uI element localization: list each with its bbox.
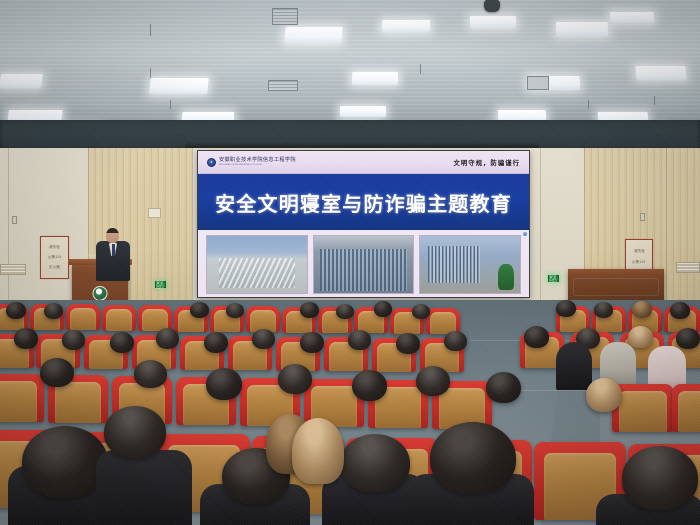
ceiling-hanger-rod <box>654 96 655 105</box>
seat <box>66 304 100 330</box>
audience-head <box>44 303 63 319</box>
fire-sign-line: 消防栓 <box>49 246 60 250</box>
campus-gate-photo <box>313 235 415 294</box>
audience-head <box>524 326 549 348</box>
audience-head <box>412 304 430 319</box>
emergency-exit-sign-right: 安全出口 <box>548 275 559 282</box>
audience-head <box>556 300 576 317</box>
presenter-tie <box>112 244 115 256</box>
brand-name-cn: 安徽职业技术学院信息工程学院 <box>219 158 296 163</box>
seat <box>672 384 700 432</box>
audience-head <box>62 330 85 350</box>
audience-head <box>14 328 38 349</box>
ceiling-hanger-rod <box>420 64 421 74</box>
slide-brand: ★ 安徽职业技术学院信息工程学院 INFORMATION ENGINEERING… <box>207 158 296 167</box>
ceiling-air-vent <box>272 8 298 25</box>
ceiling-lamp <box>382 20 431 32</box>
seat <box>102 305 136 331</box>
brand-name-en: INFORMATION ENGINEERING COLLEGE <box>219 164 296 166</box>
ceiling-hanger-rod <box>588 100 589 109</box>
audience-head <box>430 422 516 494</box>
audience-head <box>586 378 622 412</box>
brand-text: 安徽职业技术学院信息工程学院 INFORMATION ENGINEERING C… <box>219 158 296 166</box>
ceiling-speaker <box>484 0 500 12</box>
audience-head <box>670 302 690 319</box>
audience-head <box>444 331 467 351</box>
emergency-exit-sign-left: 安全出口 <box>155 281 166 288</box>
presenter-head <box>106 228 119 243</box>
audience-head <box>206 368 242 400</box>
ceiling-lamp <box>340 106 386 117</box>
audience-head <box>340 434 410 492</box>
ceiling-lamp <box>635 66 686 80</box>
audience-head <box>300 302 319 318</box>
audience-head <box>416 366 450 396</box>
wall-switch-plate[interactable] <box>640 213 645 221</box>
ceiling-lamp <box>149 78 209 94</box>
audience-head <box>104 406 166 458</box>
exit-sign-label: 安全出口 <box>549 275 558 283</box>
audience-head <box>336 304 354 319</box>
auditorium-photo: 消防栓 火警119 灭火器 消防栓 火警119 安全出口 安全出口 ★ 安徽职业… <box>0 0 700 525</box>
slide-slogan: 文明守规，防骗谨行 <box>453 158 520 167</box>
audience-head <box>486 372 521 403</box>
audience-body <box>96 450 192 525</box>
fire-sign-line: 灭火器 <box>49 266 60 270</box>
audience-head <box>632 301 652 318</box>
slide-photo-strip <box>198 230 529 297</box>
ceiling-hanger-rod <box>150 24 151 36</box>
slide-title: 安全文明寝室与防诈骗主题教育 <box>215 188 512 217</box>
wall-junction-box <box>148 208 161 218</box>
audience-head <box>300 332 324 353</box>
wall-air-grille-left <box>0 264 26 275</box>
ceiling-lamp <box>0 74 43 88</box>
audience-head <box>594 302 613 318</box>
presenter-person <box>96 228 130 280</box>
projection-screen: ★ 安徽职业技术学院信息工程学院 INFORMATION ENGINEERING… <box>197 150 530 298</box>
audience-head <box>156 328 179 349</box>
fire-sign-line: 消防栓 <box>633 250 644 254</box>
ceiling-hanger-rod <box>150 68 151 78</box>
audience-head <box>396 333 420 354</box>
university-seal-icon: ★ <box>207 158 216 167</box>
audience-head <box>204 332 228 353</box>
campus-building-photo <box>419 235 521 294</box>
ceiling-lamp <box>284 27 342 43</box>
fire-sign-line: 火警119 <box>48 256 62 260</box>
ceiling-lamp <box>352 72 398 85</box>
ceiling-lamp <box>610 12 655 23</box>
audience-head <box>292 418 344 484</box>
fire-sign-line: 火警119 <box>632 261 646 265</box>
audience-head <box>190 302 209 318</box>
audience-body <box>556 342 592 390</box>
ceiling <box>0 0 700 132</box>
presentation-slide: ★ 安徽职业技术学院信息工程学院 INFORMATION ENGINEERING… <box>198 151 529 297</box>
fire-safety-sign-left: 消防栓 火警119 灭火器 <box>40 236 69 279</box>
wall-switch-plate[interactable] <box>12 216 17 224</box>
audience-head <box>676 328 700 349</box>
audience-head <box>110 332 134 353</box>
ceiling-air-vent <box>268 80 298 91</box>
side-console-table <box>568 269 664 301</box>
exit-sign-label: 安全出口 <box>156 281 165 289</box>
audience-head <box>352 370 387 401</box>
audience-head <box>628 326 653 348</box>
audience-head <box>6 302 26 319</box>
audience-head <box>134 360 167 388</box>
audience-head <box>226 303 244 318</box>
audience-head <box>252 329 275 349</box>
ceiling-access-panel <box>527 76 549 90</box>
wall-air-grille-right <box>676 262 700 273</box>
audience-head <box>40 358 74 387</box>
audience-head <box>278 364 312 394</box>
audience-head <box>374 301 392 317</box>
slide-corner-marker-icon <box>523 232 527 236</box>
slide-header: ★ 安徽职业技术学院信息工程学院 INFORMATION ENGINEERING… <box>198 151 529 174</box>
audience-head <box>348 330 371 350</box>
campus-aerial-photo <box>206 235 308 294</box>
slide-title-band: 安全文明寝室与防诈骗主题教育 <box>198 174 529 230</box>
ceiling-lamp <box>470 16 516 28</box>
ceiling-lamp <box>556 22 609 36</box>
ceiling-hanger-rod <box>170 100 171 109</box>
seating-area <box>0 298 700 525</box>
seat <box>0 374 44 422</box>
audience-head <box>622 446 698 510</box>
